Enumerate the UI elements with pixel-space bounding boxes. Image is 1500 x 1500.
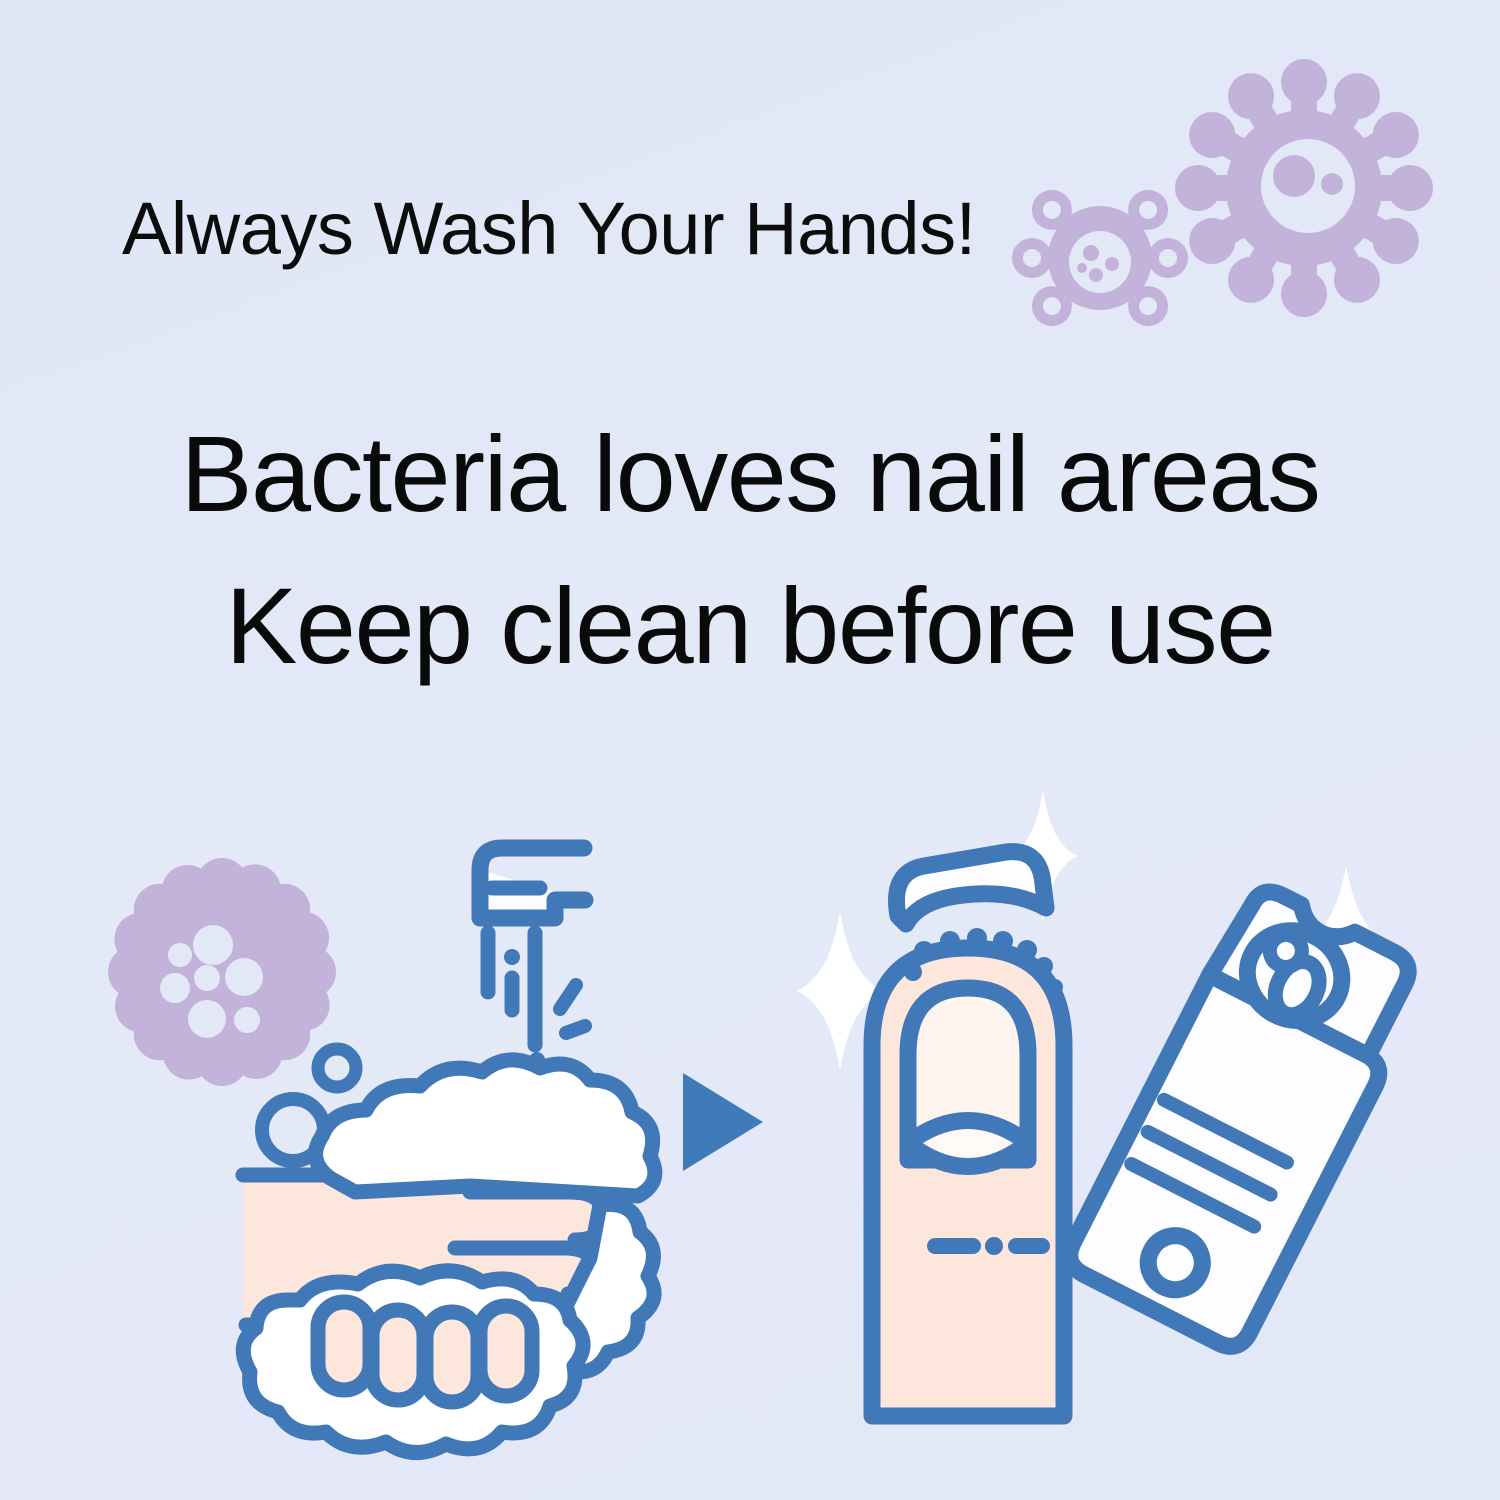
washing-hands-icon [243, 1060, 655, 1453]
nail-clipping-icon [896, 852, 1046, 924]
faucet-icon [480, 848, 585, 918]
fingernail-icon [872, 928, 1064, 1416]
infographic-poster: Always Wash Your Hands! Bacteria loves n… [0, 0, 1500, 1500]
nail-clipper-icon [1063, 882, 1434, 1353]
soap-bubble-small-icon [318, 1049, 356, 1087]
germ-left-icon [107, 857, 338, 1088]
message-line-1: Bacteria loves nail areas [0, 420, 1500, 528]
play-arrow-icon [683, 1073, 763, 1171]
water-stream-icon [488, 933, 585, 1068]
page-title: Always Wash Your Hands! [122, 192, 976, 266]
message-line-2: Keep clean before use [0, 572, 1500, 680]
